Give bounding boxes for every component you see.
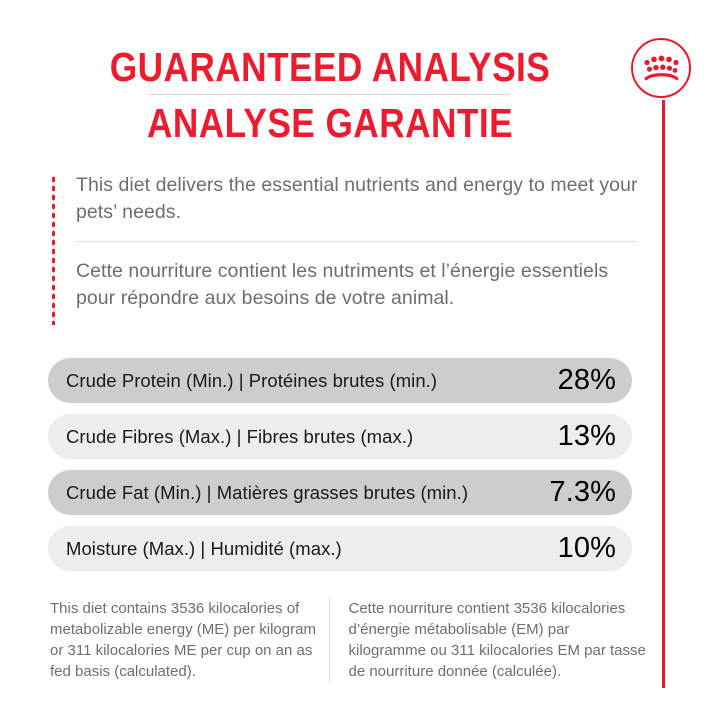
footnote-french: Cette nourriture contient 3536 kilocalor… <box>329 598 650 682</box>
guaranteed-analysis-panel: GUARANTEED ANALYSIS ANALYSE GARANTIE Thi… <box>0 0 720 720</box>
analysis-row: Crude Fibres (Max.) | Fibres brutes (max… <box>48 414 632 459</box>
analysis-row-value: 13% <box>558 420 616 453</box>
analysis-row-value: 28% <box>558 364 616 397</box>
brand-logo <box>631 38 697 104</box>
analysis-rows: Crude Protein (Min.) | Protéines brutes … <box>48 358 632 582</box>
analysis-row-value: 7.3% <box>550 476 617 509</box>
intro-block: This diet delivers the essential nutrien… <box>46 172 646 312</box>
intro-paragraph-french: Cette nourriture contient les nutriments… <box>76 258 646 312</box>
title-english: GUARANTEED ANALYSIS <box>81 44 580 90</box>
title-divider <box>149 94 511 95</box>
intro-divider <box>76 241 638 242</box>
dotted-rail-decoration <box>51 175 56 325</box>
royal-canin-crown-icon <box>643 55 680 81</box>
intro-paragraph-english: This diet delivers the essential nutrien… <box>76 172 646 226</box>
analysis-row: Crude Protein (Min.) | Protéines brutes … <box>48 358 632 403</box>
analysis-row-label: Crude Fibres (Max.) | Fibres brutes (max… <box>66 426 413 448</box>
page-title: GUARANTEED ANALYSIS ANALYSE GARANTIE <box>40 44 620 146</box>
analysis-row-label: Crude Protein (Min.) | Protéines brutes … <box>66 370 437 392</box>
analysis-row-label: Moisture (Max.) | Humidité (max.) <box>66 538 342 560</box>
footnotes: This diet contains 3536 kilocalories of … <box>50 598 650 682</box>
analysis-row: Crude Fat (Min.) | Matières grasses brut… <box>48 470 632 515</box>
title-french: ANALYSE GARANTIE <box>81 100 580 146</box>
right-red-rule <box>662 100 665 688</box>
intro-text: This diet delivers the essential nutrien… <box>76 172 646 312</box>
analysis-row-value: 10% <box>558 532 616 565</box>
footnote-english: This diet contains 3536 kilocalories of … <box>50 598 329 682</box>
analysis-row: Moisture (Max.) | Humidité (max.) 10% <box>48 526 632 571</box>
analysis-row-label: Crude Fat (Min.) | Matières grasses brut… <box>66 482 468 504</box>
